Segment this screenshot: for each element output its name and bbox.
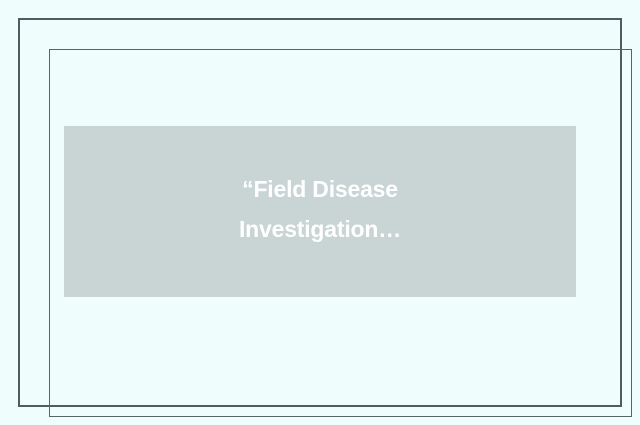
placeholder-title-text: “Field Disease Investigation… bbox=[64, 169, 576, 249]
image-placeholder-block: “Field Disease Investigation… bbox=[64, 126, 576, 297]
page-canvas: “Field Disease Investigation… bbox=[0, 0, 640, 425]
